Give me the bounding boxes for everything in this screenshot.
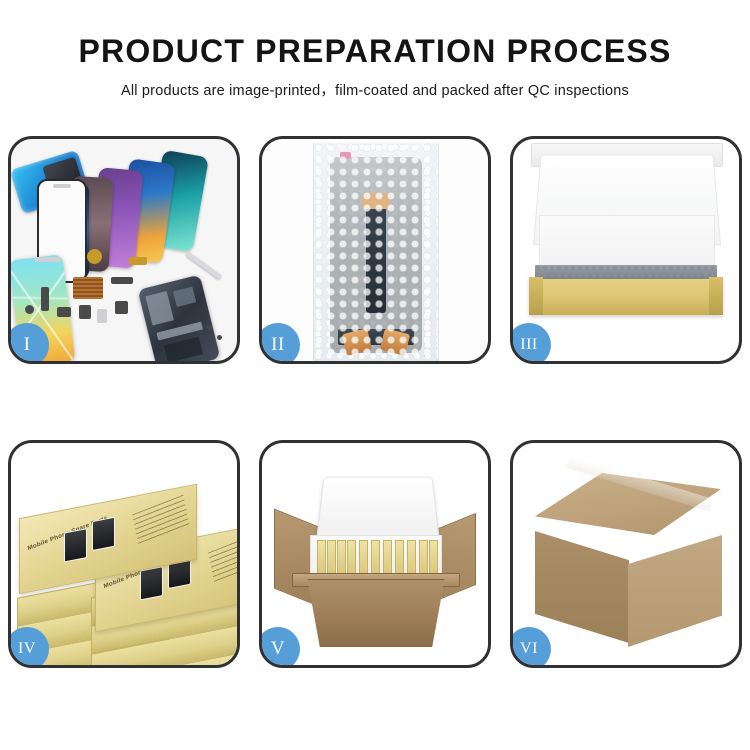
step-badge-4: IV: [8, 627, 49, 668]
sim-tray-part-graphic: [97, 309, 107, 323]
carton-right-face-graphic: [628, 535, 722, 647]
box-art-phone-graphic: [140, 566, 163, 600]
step-badge-1: I: [8, 323, 49, 364]
step-image-3: [513, 139, 739, 361]
step-panel-5[interactable]: V: [259, 440, 491, 668]
step-badge-3: III: [510, 323, 551, 364]
step-panel-1[interactable]: I: [8, 136, 240, 364]
box-corner-graphic: [529, 277, 543, 315]
flex-cable-graphic: [366, 205, 386, 313]
box-stack-graphic: Mobile Phone Spare Parts Mobile Phone Sp…: [17, 465, 235, 661]
page-header: PRODUCT PREPARATION PROCESS All products…: [0, 0, 750, 100]
step-panel-4[interactable]: Mobile Phone Spare Parts Mobile Phone Sp…: [8, 440, 240, 668]
small-part-graphic: [79, 305, 91, 319]
small-part-graphic: [115, 301, 128, 314]
carton-body-graphic: [298, 579, 454, 647]
box-corner-graphic: [709, 277, 723, 315]
screw-part-graphic: [25, 305, 34, 314]
speaker-part-graphic: [87, 249, 102, 264]
phone-backplate-graphic: [138, 275, 221, 361]
box-art-phone-graphic: [92, 517, 115, 551]
phone-notch-graphic: [53, 184, 71, 188]
step-badge-5: V: [259, 627, 300, 668]
carton-seam-graphic: [587, 639, 601, 665]
step-badge-2: II: [259, 323, 300, 364]
yellow-box-body-graphic: [529, 277, 723, 315]
small-part-graphic: [57, 307, 71, 317]
carton-left-face-graphic: [535, 531, 629, 643]
step-panel-2[interactable]: II: [259, 136, 491, 364]
box-spec-lines-graphic: [132, 495, 190, 547]
step-image-6: [513, 443, 739, 665]
foam-lid-graphic: [316, 477, 440, 542]
small-part-graphic: [111, 277, 133, 284]
step-image-4: Mobile Phone Spare Parts Mobile Phone Sp…: [11, 443, 237, 665]
small-part-graphic: [35, 257, 61, 262]
step-badge-6: VI: [510, 627, 551, 668]
step-panel-6[interactable]: VI: [510, 440, 742, 668]
step-image-1: [11, 139, 237, 361]
bubble-wrap-bag-graphic: [313, 143, 439, 361]
label-sticker-graphic: [340, 152, 351, 159]
box-art-phone-graphic: [64, 528, 87, 562]
process-step-grid: I II III: [8, 136, 742, 668]
copper-mesh-part-graphic: [73, 277, 103, 299]
screw-part-graphic: [207, 325, 212, 330]
step-panel-3[interactable]: III: [510, 136, 742, 364]
flex-cable-part-graphic: [129, 257, 147, 265]
step-image-2: [262, 139, 488, 361]
box-spec-lines-graphic: [208, 533, 237, 585]
page-title: PRODUCT PREPARATION PROCESS: [0, 33, 750, 70]
page-subtitle: All products are image-printed，film-coat…: [0, 79, 750, 100]
step-image-5: [262, 443, 488, 665]
small-part-graphic: [41, 287, 49, 311]
screw-part-graphic: [217, 335, 222, 340]
